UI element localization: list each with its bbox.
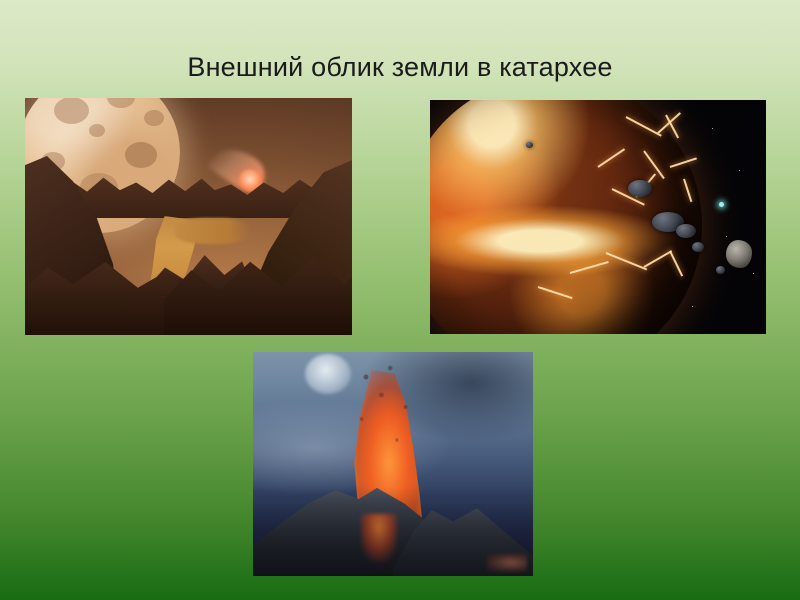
- image-alien-landscape-moon-comet[interactable]: [25, 98, 352, 335]
- star-icon: [712, 128, 713, 129]
- star-icon: [739, 170, 740, 171]
- star-icon: [692, 306, 693, 307]
- star-icon: [753, 273, 754, 274]
- slide-canvas: Внешний облик земли в катархее: [0, 0, 800, 600]
- page-title: Внешний облик земли в катархее: [0, 52, 800, 83]
- asteroid: [676, 224, 696, 238]
- cyan-star-icon: [719, 202, 724, 207]
- asteroid: [526, 142, 533, 148]
- star-icon: [726, 236, 727, 237]
- distant-asteroid: [726, 240, 752, 268]
- moon-crater-icon: [89, 124, 105, 137]
- lava-river-branch: [175, 218, 251, 244]
- asteroid: [692, 242, 704, 252]
- foreground-ash-shading: [253, 486, 533, 576]
- asteroid: [716, 266, 725, 274]
- image-erupting-volcano[interactable]: [253, 352, 533, 576]
- moon-crater-icon: [54, 98, 90, 124]
- asteroid: [628, 180, 652, 197]
- moon-crater-icon: [125, 142, 157, 168]
- image-molten-early-earth[interactable]: [430, 100, 766, 334]
- lava-spatter: [333, 356, 443, 506]
- moon-crater-icon: [144, 110, 163, 126]
- moon-crater-icon: [107, 98, 135, 108]
